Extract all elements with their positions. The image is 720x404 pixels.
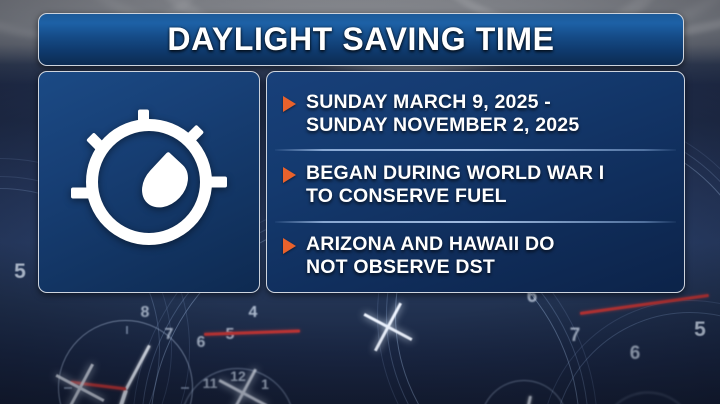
fact-item: SUNDAY MARCH 9, 2025 - SUNDAY NOVEMBER 2… <box>267 78 684 149</box>
facts-panel: SUNDAY MARCH 9, 2025 - SUNDAY NOVEMBER 2… <box>266 71 685 293</box>
page-title: DAYLIGHT SAVING TIME <box>167 21 554 58</box>
gauge-tick-12 <box>138 110 149 130</box>
gauge-clock-icon <box>67 100 231 264</box>
orange-triangle-bullet-icon <box>283 96 296 112</box>
fact-text: ARIZONA AND HAWAII DO NOT OBSERVE DST <box>306 233 555 279</box>
fact-item: BEGAN DURING WORLD WAR I TO CONSERVE FUE… <box>267 149 684 220</box>
fact-item: ARIZONA AND HAWAII DO NOT OBSERVE DST <box>267 221 684 292</box>
gauge-tick-3 <box>207 177 227 188</box>
fact-text: SUNDAY MARCH 9, 2025 - SUNDAY NOVEMBER 2… <box>306 91 579 137</box>
orange-triangle-bullet-icon <box>283 167 296 183</box>
fact-text: BEGAN DURING WORLD WAR I TO CONSERVE FUE… <box>306 162 604 208</box>
icon-panel <box>38 71 260 293</box>
page-title-bar: DAYLIGHT SAVING TIME <box>38 13 684 66</box>
gauge-tick-9 <box>71 188 91 199</box>
orange-triangle-bullet-icon <box>283 238 296 254</box>
